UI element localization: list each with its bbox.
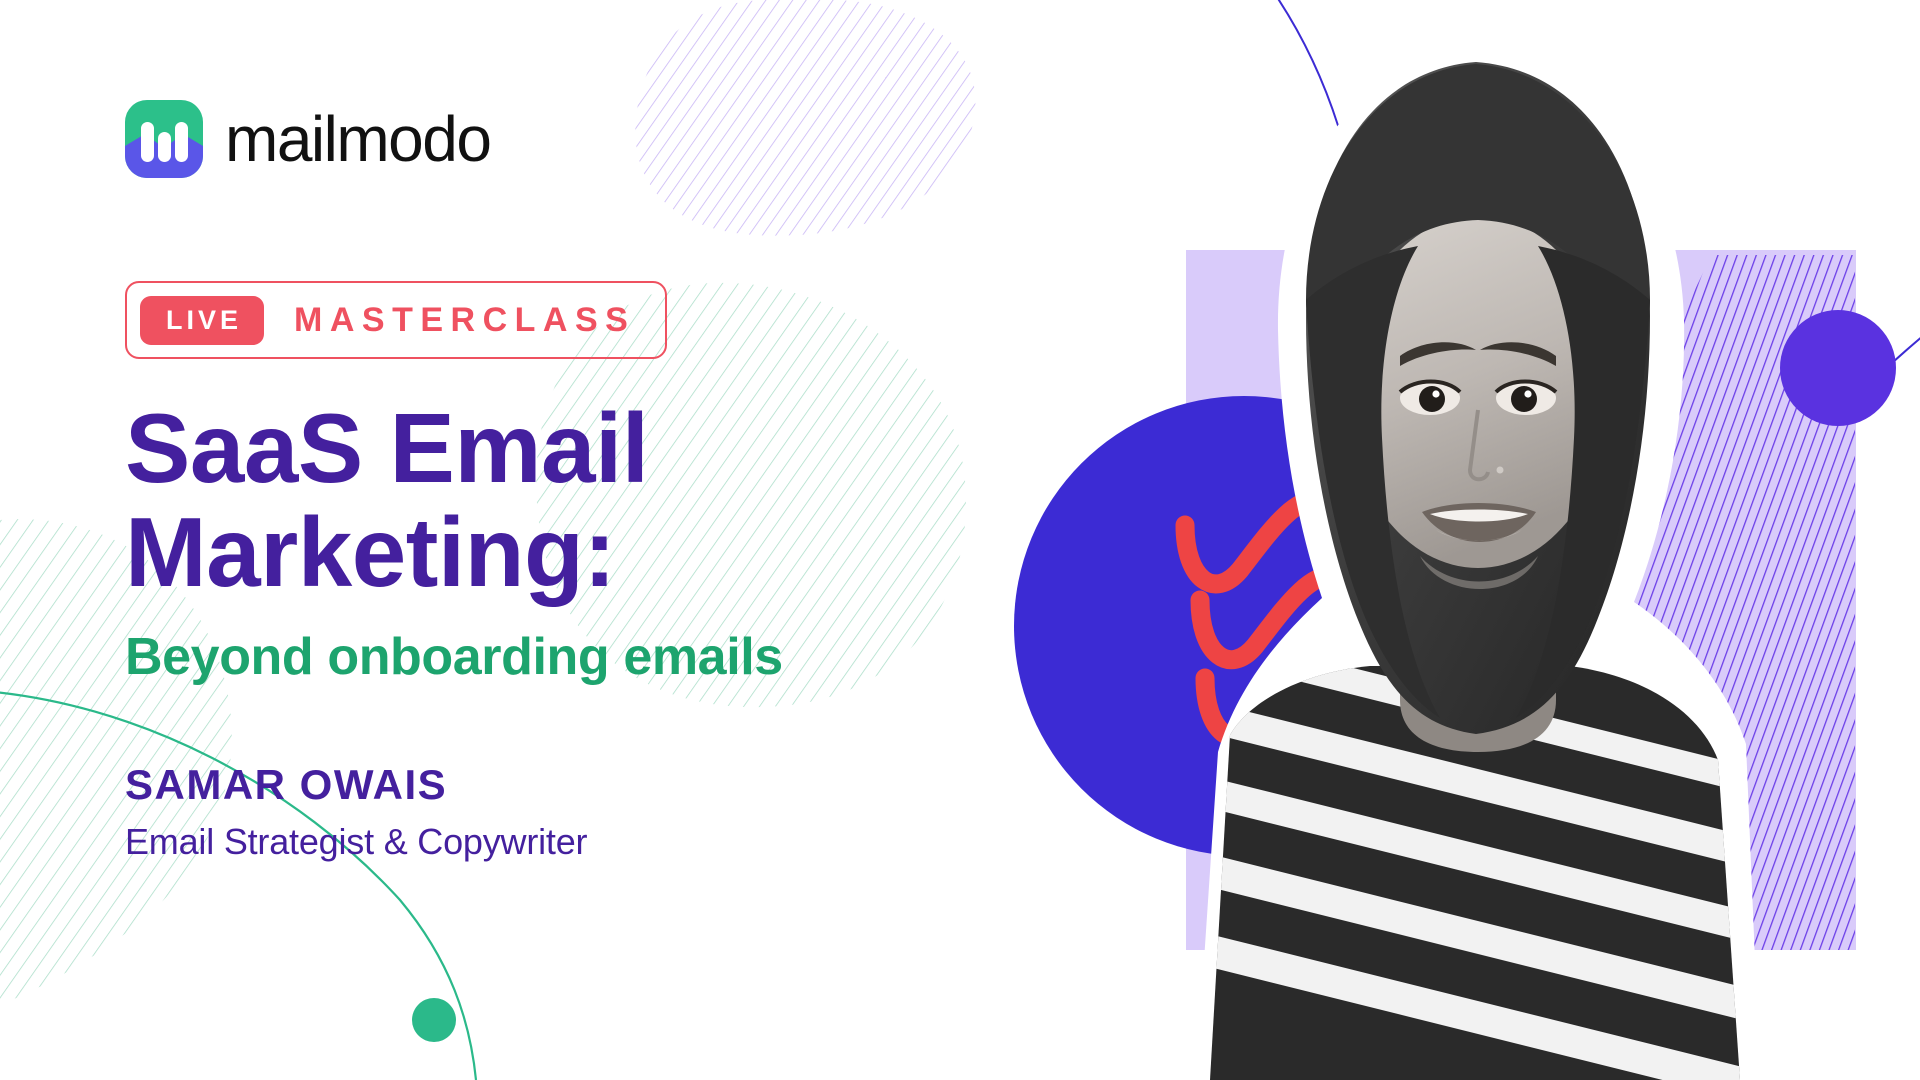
mailmodo-logo-icon bbox=[125, 100, 203, 178]
speaker-role: Email Strategist & Copywriter bbox=[125, 820, 1125, 863]
live-chip: LIVE bbox=[140, 296, 264, 345]
content-column: mailmodo LIVE MASTERCLASS SaaS Email Mar… bbox=[125, 100, 1125, 863]
speaker-portrait bbox=[1100, 0, 1920, 1080]
brand-name: mailmodo bbox=[225, 107, 490, 171]
live-masterclass-badge: LIVE MASTERCLASS bbox=[125, 281, 667, 359]
page-subtitle: Beyond onboarding emails bbox=[125, 629, 1125, 686]
brand-logo[interactable]: mailmodo bbox=[125, 100, 1125, 178]
mint-dot bbox=[412, 998, 456, 1042]
speaker-info: SAMAR OWAIS Email Strategist & Copywrite… bbox=[125, 762, 1125, 863]
page-title: SaaS Email Marketing: bbox=[125, 397, 1125, 605]
promo-banner: mailmodo LIVE MASTERCLASS SaaS Email Mar… bbox=[0, 0, 1920, 1080]
masterclass-label: MASTERCLASS bbox=[294, 303, 635, 337]
speaker-name: SAMAR OWAIS bbox=[125, 762, 1125, 808]
